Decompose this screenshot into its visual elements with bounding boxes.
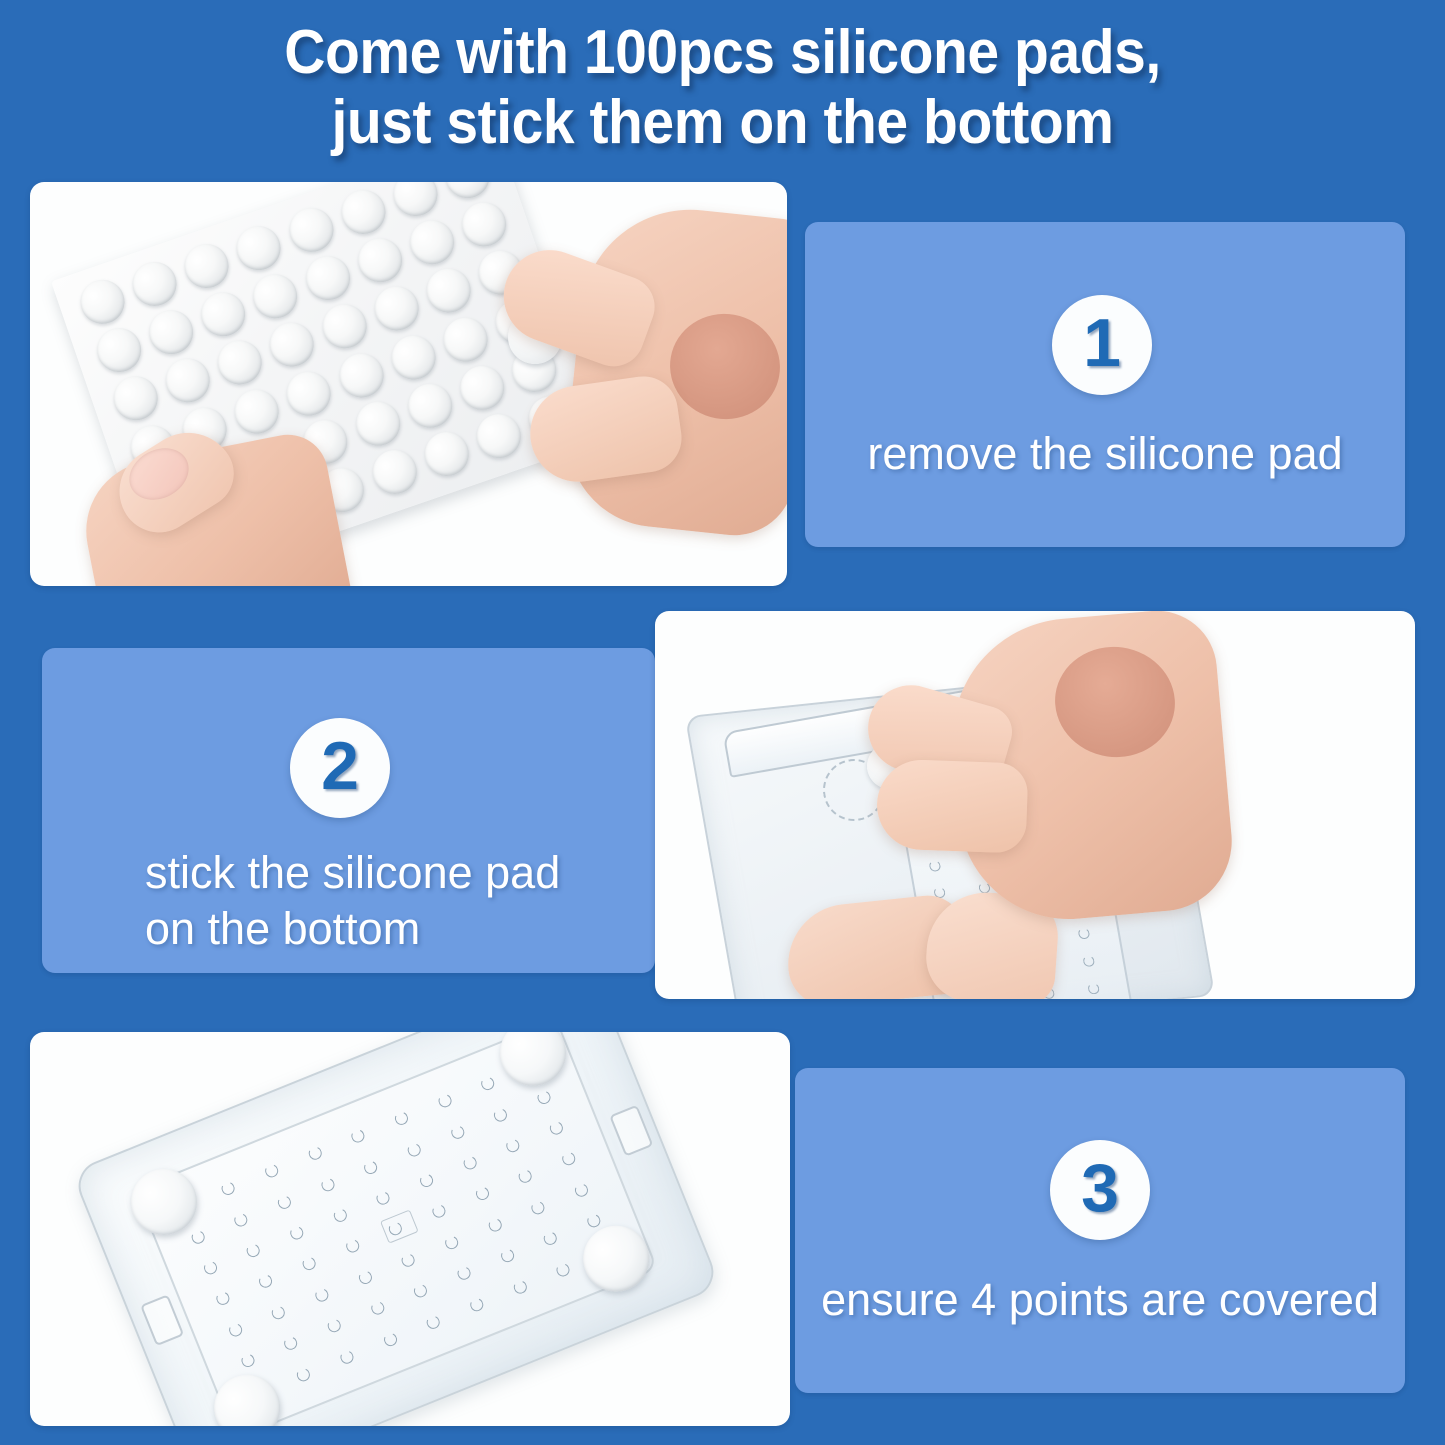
pad-dot bbox=[437, 311, 493, 367]
bin-texture-dot bbox=[530, 1199, 547, 1216]
pad-dot bbox=[160, 353, 216, 409]
bin-texture-dot bbox=[474, 1186, 491, 1203]
pad-dot bbox=[316, 299, 372, 355]
bin-texture-dot bbox=[413, 1283, 430, 1300]
photo-pads-sheet-scene bbox=[30, 182, 787, 586]
step-number-2: 2 bbox=[321, 732, 359, 800]
bin-texture-dot bbox=[512, 1279, 529, 1296]
bin-texture-dot bbox=[487, 1217, 504, 1234]
bin-texture-dot bbox=[382, 1331, 399, 1348]
bin-texture-dot bbox=[400, 1252, 417, 1269]
bin-texture-dot bbox=[505, 1137, 522, 1154]
photo-card-bin-underside bbox=[30, 1032, 790, 1426]
bin-texture-dot bbox=[517, 1168, 534, 1185]
step-caption-2: stick the silicone pad on the bottom bbox=[145, 845, 615, 957]
bin-texture-dot bbox=[283, 1335, 300, 1352]
bin-texture-dot bbox=[492, 1106, 509, 1123]
pad-dot bbox=[352, 233, 408, 289]
pad-dot bbox=[439, 182, 495, 204]
pad-dot bbox=[248, 268, 304, 324]
pad-dot bbox=[283, 202, 339, 258]
bin-texture-dot bbox=[227, 1321, 244, 1338]
bin-texture-dot bbox=[418, 1172, 435, 1189]
bin-texture-dot bbox=[425, 1314, 442, 1331]
bin-texture-dot bbox=[258, 1273, 275, 1290]
bin-texture-dot bbox=[431, 1203, 448, 1220]
pad-dot bbox=[421, 263, 477, 319]
bin-texture-dot bbox=[375, 1190, 392, 1207]
bin-texture-dot bbox=[499, 1248, 516, 1265]
step-caption-3: ensure 4 points are covered bbox=[795, 1272, 1405, 1328]
pad-dot bbox=[179, 238, 235, 294]
bin-texture-dot bbox=[220, 1180, 237, 1197]
pressing-hand-thumb bbox=[875, 758, 1028, 853]
pad-dot bbox=[385, 329, 441, 385]
page-title: Come with 100pcs silicone pads, just sti… bbox=[58, 18, 1387, 158]
infographic-canvas: Come with 100pcs silicone pads, just sti… bbox=[0, 0, 1445, 1445]
bin-texture-dot bbox=[548, 1120, 565, 1137]
bin-texture-dot bbox=[1087, 982, 1100, 994]
bin-texture-dot bbox=[357, 1269, 374, 1286]
bin-texture-dot bbox=[480, 1075, 497, 1092]
bin-texture-dot bbox=[202, 1259, 219, 1276]
headline-line-1: Come with 100pcs silicone pads, bbox=[58, 18, 1387, 88]
pad-dot bbox=[108, 371, 164, 427]
bin-texture-dot bbox=[928, 860, 941, 872]
bin-texture-dot bbox=[1082, 955, 1095, 967]
bin-texture-dot bbox=[344, 1238, 361, 1255]
pad-dot bbox=[366, 444, 422, 500]
bin-texture-dot bbox=[319, 1176, 336, 1193]
bin-texture-dot bbox=[314, 1286, 331, 1303]
bin-texture-dot bbox=[326, 1317, 343, 1334]
bin-texture-dot bbox=[468, 1296, 485, 1313]
pad-dot bbox=[229, 383, 285, 439]
photo-card-pads-sheet bbox=[30, 182, 787, 586]
bin-texture-dot bbox=[233, 1211, 250, 1228]
pad-dot bbox=[143, 304, 199, 360]
bin-texture-dot bbox=[443, 1234, 460, 1251]
photo-bin-underside-scene bbox=[30, 1032, 790, 1426]
bin-texture-dot bbox=[189, 1228, 206, 1245]
pad-dot bbox=[350, 396, 406, 452]
step-badge-2: 2 bbox=[290, 718, 390, 818]
bin-texture-dot bbox=[406, 1141, 423, 1158]
bin-texture-dot bbox=[295, 1366, 312, 1383]
pad-dot bbox=[419, 426, 475, 482]
headline-line-2: just stick them on the bottom bbox=[58, 88, 1387, 158]
bin-texture-dot bbox=[339, 1348, 356, 1365]
pad-dot bbox=[369, 281, 425, 337]
bin-texture-dot bbox=[301, 1255, 318, 1272]
bin-texture-dot bbox=[561, 1151, 578, 1168]
bin-texture-dot bbox=[263, 1163, 280, 1180]
pad-dot bbox=[454, 360, 510, 416]
clear-bin-underside bbox=[71, 1032, 721, 1426]
bin-texture-dot bbox=[307, 1145, 324, 1162]
bin-texture-dot bbox=[369, 1300, 386, 1317]
bin-texture-dot bbox=[350, 1128, 367, 1145]
pad-dot bbox=[333, 347, 389, 403]
pad-dot bbox=[264, 317, 320, 373]
pad-dot bbox=[471, 408, 527, 464]
step-number-1: 1 bbox=[1083, 309, 1121, 377]
bin-texture-dot bbox=[362, 1159, 379, 1176]
bin-texture-dot bbox=[456, 1265, 473, 1282]
bin-texture-dot bbox=[542, 1230, 559, 1247]
bin-texture-dot bbox=[536, 1089, 553, 1106]
pad-dot bbox=[387, 182, 443, 222]
pad-dot bbox=[91, 322, 147, 378]
photo-card-sticking-pad bbox=[655, 611, 1415, 999]
bin-texture-dot bbox=[245, 1242, 262, 1259]
pad-dot bbox=[196, 286, 252, 342]
pad-dot bbox=[456, 197, 512, 253]
bin-texture-dot bbox=[270, 1304, 287, 1321]
bin-texture-dot bbox=[449, 1124, 466, 1141]
step-caption-1: remove the silicone pad bbox=[805, 426, 1405, 482]
step-number-3: 3 bbox=[1081, 1154, 1119, 1222]
bin-texture-dot bbox=[586, 1213, 603, 1230]
pad-dot bbox=[402, 378, 458, 434]
pad-dot bbox=[212, 335, 268, 391]
pad-dot bbox=[404, 215, 460, 271]
bin-texture-dot bbox=[214, 1290, 231, 1307]
pad-dot bbox=[300, 251, 356, 307]
pad-dot bbox=[335, 184, 391, 240]
step-badge-3: 3 bbox=[1050, 1140, 1150, 1240]
bin-texture-dot bbox=[1078, 928, 1091, 940]
pad-dot bbox=[281, 365, 337, 421]
bin-texture-dot bbox=[276, 1194, 293, 1211]
photo-sticking-pad-scene bbox=[655, 611, 1415, 999]
bin-texture-dot bbox=[239, 1352, 256, 1369]
bin-texture-dot bbox=[573, 1182, 590, 1199]
pad-dot bbox=[75, 274, 131, 330]
bin-texture-dot bbox=[288, 1225, 305, 1242]
pad-dot bbox=[127, 256, 183, 312]
bin-texture-dot bbox=[462, 1155, 479, 1172]
pad-dot bbox=[231, 220, 287, 276]
bin-texture-dot bbox=[332, 1207, 349, 1224]
step-badge-1: 1 bbox=[1052, 295, 1152, 395]
bin-texture-dot bbox=[393, 1110, 410, 1127]
bin-texture-dot bbox=[555, 1261, 572, 1278]
bin-texture-dot bbox=[436, 1093, 453, 1110]
